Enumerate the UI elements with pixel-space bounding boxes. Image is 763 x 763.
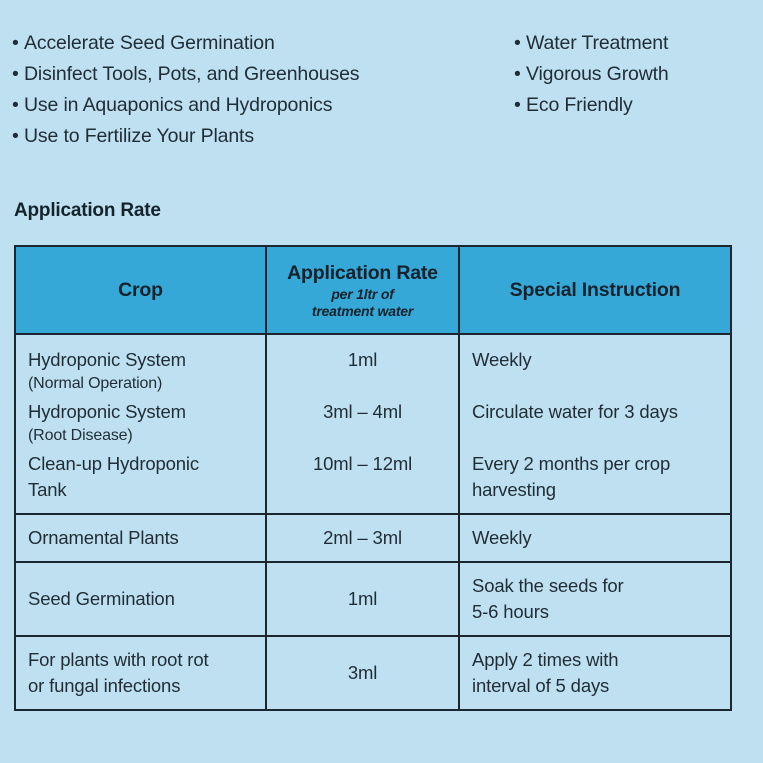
benefits-list-right: • Water Treatment • Vigorous Growth • Ec…: [514, 28, 759, 121]
rate-group-stack: 1ml 3ml – 4ml 10ml – 12ml: [267, 335, 458, 513]
instruction-line: Weekly: [472, 525, 718, 551]
benefit-label: Accelerate Seed Germination: [24, 28, 275, 59]
bullet-icon: •: [12, 90, 24, 121]
rate-group-item: 3ml – 4ml: [273, 399, 452, 447]
cell-crop: For plants with root rot or fungal infec…: [15, 636, 266, 710]
list-item: • Vigorous Growth: [514, 59, 759, 90]
list-item: • Use in Aquaponics and Hydroponics: [12, 90, 512, 121]
benefit-label: Vigorous Growth: [526, 59, 669, 90]
crop-group-item: Clean-up Hydroponic Tank: [28, 451, 253, 499]
bullet-icon: •: [12, 121, 24, 152]
benefit-label: Use to Fertilize Your Plants: [24, 121, 254, 152]
instruction-line: Soak the seeds for: [472, 573, 718, 599]
instruction-line: Circulate water for 3 days: [472, 399, 718, 425]
instruction-line: Weekly: [472, 347, 718, 373]
bullet-icon: •: [12, 28, 24, 59]
benefit-label: Disinfect Tools, Pots, and Greenhouses: [24, 59, 359, 90]
instruction-group-item: Weekly: [472, 347, 718, 395]
instruction-line: Apply 2 times with: [472, 647, 718, 673]
column-header-special-instruction: Special Instruction: [459, 246, 731, 334]
crop-name: Hydroponic System: [28, 347, 253, 373]
table-row: Seed Germination 1ml Soak the seeds for …: [15, 562, 731, 636]
benefit-label: Use in Aquaponics and Hydroponics: [24, 90, 332, 121]
bullet-icon: •: [514, 28, 526, 59]
crop-name: Hydroponic System: [28, 399, 253, 425]
column-header-instruction-label: Special Instruction: [460, 278, 730, 302]
cell-crop: Seed Germination: [15, 562, 266, 636]
list-item: • Eco Friendly: [514, 90, 759, 121]
crop-group-item: Hydroponic System (Root Disease): [28, 399, 253, 447]
page-title: Application Rate: [14, 200, 161, 222]
table-row: Ornamental Plants 2ml – 3ml Weekly: [15, 514, 731, 562]
column-header-rate-sub-line1: per 1ltr of: [267, 286, 458, 303]
cell-rate: 1ml: [266, 562, 459, 636]
column-header-application-rate: Application Rate per 1ltr of treatment w…: [266, 246, 459, 334]
cell-instruction: Soak the seeds for 5-6 hours: [459, 562, 731, 636]
benefit-label: Eco Friendly: [526, 90, 633, 121]
list-item: • Use to Fertilize Your Plants: [12, 121, 512, 152]
instruction-group-item: Circulate water for 3 days: [472, 399, 718, 447]
crop-subnote: (Normal Operation): [28, 373, 253, 395]
cell-instruction: Weekly: [459, 514, 731, 562]
rate-group-item: 1ml: [273, 347, 452, 395]
table-row: Hydroponic System (Normal Operation) Hyd…: [15, 334, 731, 514]
rate-value: 3ml – 4ml: [323, 399, 402, 425]
instruction-group-stack: Weekly Circulate water for 3 days Every …: [460, 335, 730, 513]
instruction-line: 5-6 hours: [472, 599, 718, 625]
benefits-section: • Accelerate Seed Germination • Disinfec…: [0, 0, 763, 190]
rate-group-item: 10ml – 12ml: [273, 451, 452, 499]
bullet-icon: •: [12, 59, 24, 90]
cell-crop-group: Hydroponic System (Normal Operation) Hyd…: [15, 334, 266, 514]
instruction-line: Every 2 months per crop: [472, 451, 718, 477]
rate-value: 1ml: [348, 347, 377, 373]
instruction-group-item: Every 2 months per crop harvesting: [472, 451, 718, 499]
crop-name: Seed Germination: [28, 586, 253, 612]
crop-name: Clean-up Hydroponic: [28, 451, 253, 477]
column-header-crop-label: Crop: [16, 278, 265, 302]
bullet-icon: •: [514, 90, 526, 121]
crop-group-stack: Hydroponic System (Normal Operation) Hyd…: [16, 335, 265, 513]
instruction-line: harvesting: [472, 477, 718, 503]
cell-instruction: Apply 2 times with interval of 5 days: [459, 636, 731, 710]
list-item: • Water Treatment: [514, 28, 759, 59]
rate-value: 10ml – 12ml: [313, 451, 412, 477]
list-item: • Disinfect Tools, Pots, and Greenhouses: [12, 59, 512, 90]
crop-name: Ornamental Plants: [28, 525, 253, 551]
cell-rate: 2ml – 3ml: [266, 514, 459, 562]
rate-value: 3ml: [279, 660, 446, 686]
instruction-line: interval of 5 days: [472, 673, 718, 699]
column-header-crop: Crop: [15, 246, 266, 334]
rate-value: 2ml – 3ml: [279, 525, 446, 551]
benefit-label: Water Treatment: [526, 28, 668, 59]
crop-group-item: Hydroponic System (Normal Operation): [28, 347, 253, 395]
table-header-row: Crop Application Rate per 1ltr of treatm…: [15, 246, 731, 334]
application-rate-table: Crop Application Rate per 1ltr of treatm…: [14, 245, 732, 711]
cell-crop: Ornamental Plants: [15, 514, 266, 562]
cell-rate-group: 1ml 3ml – 4ml 10ml – 12ml: [266, 334, 459, 514]
crop-name-cont: Tank: [28, 477, 253, 503]
table-row: For plants with root rot or fungal infec…: [15, 636, 731, 710]
bullet-icon: •: [514, 59, 526, 90]
crop-subnote: (Root Disease): [28, 425, 253, 447]
list-item: • Accelerate Seed Germination: [12, 28, 512, 59]
crop-name: For plants with root rot: [28, 647, 253, 673]
benefits-list-left: • Accelerate Seed Germination • Disinfec…: [12, 28, 512, 152]
column-header-rate-sub-line2: treatment water: [267, 303, 458, 320]
cell-instruction-group: Weekly Circulate water for 3 days Every …: [459, 334, 731, 514]
cell-rate: 3ml: [266, 636, 459, 710]
column-header-rate-label: Application Rate: [267, 261, 458, 285]
rate-value: 1ml: [279, 586, 446, 612]
crop-name-cont: or fungal infections: [28, 673, 253, 699]
